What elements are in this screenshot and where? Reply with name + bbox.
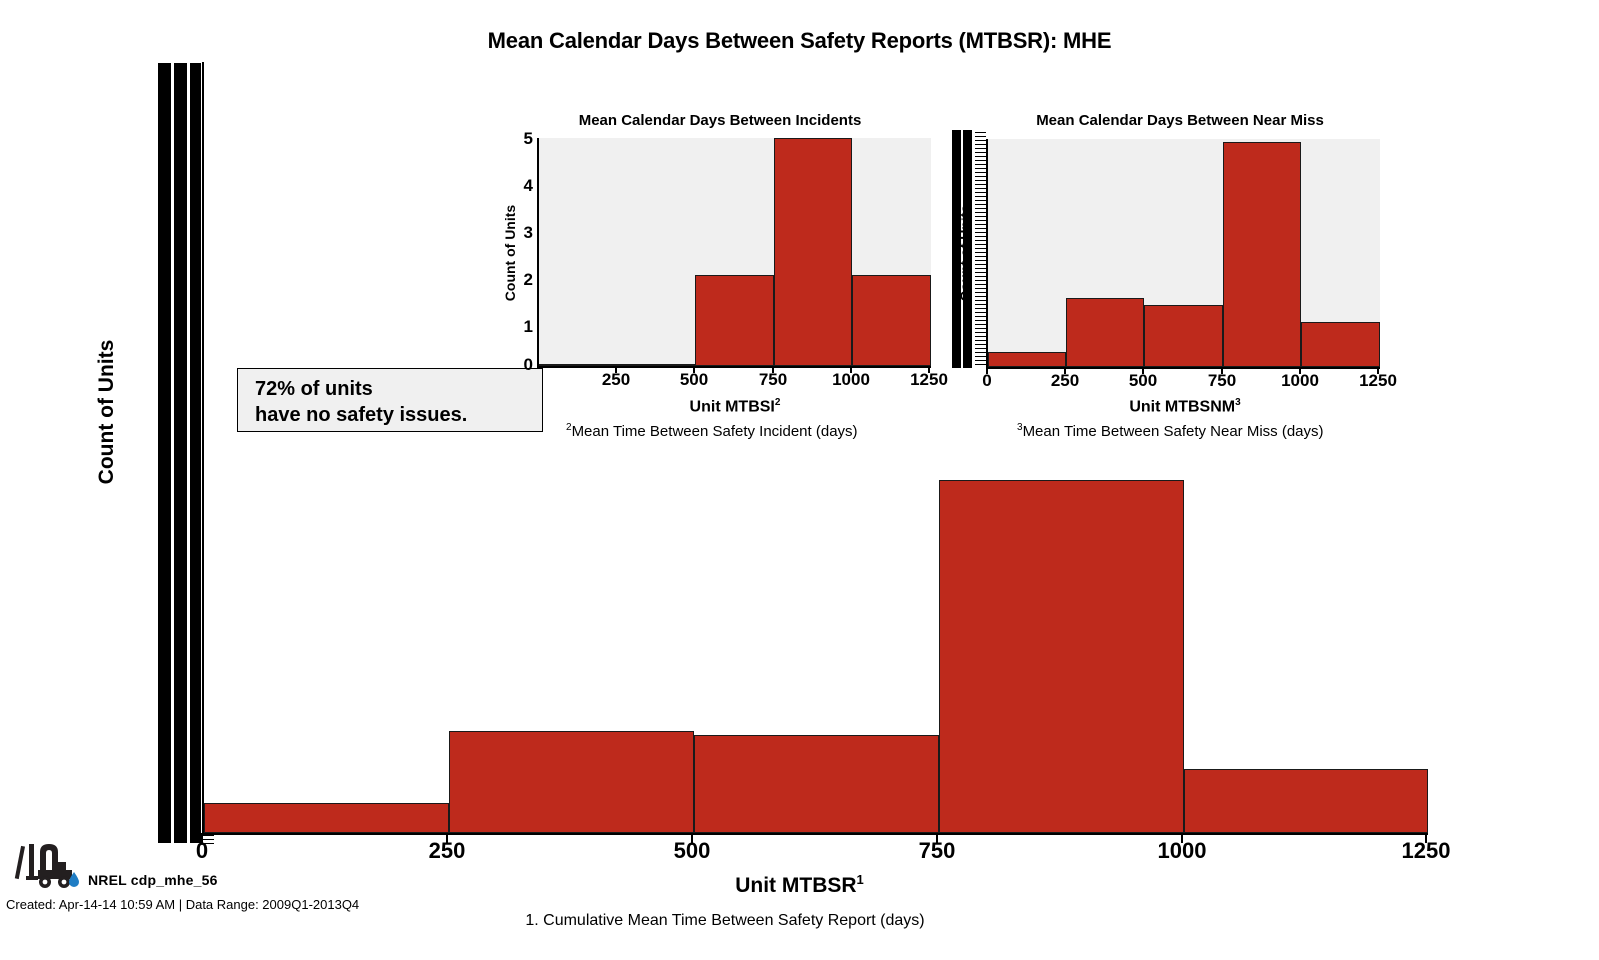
main-bar-750-1000[interactable] bbox=[939, 480, 1184, 833]
inset-near-miss-x-axis-label-superscript: 3 bbox=[1235, 397, 1241, 408]
inset-near-miss-bar-750-1000[interactable] bbox=[1223, 142, 1301, 367]
inset-incidents-bar-0-250[interactable] bbox=[539, 364, 617, 366]
inset-incidents-xtick-250: 250 bbox=[581, 370, 651, 390]
inset-near-miss-xtick-750: 750 bbox=[1187, 371, 1257, 391]
inset-near-miss-xtick-0: 0 bbox=[952, 371, 1022, 391]
page-title: Mean Calendar Days Between Safety Report… bbox=[0, 28, 1599, 54]
inset-incidents-x-axis-label-superscript: 2 bbox=[775, 397, 781, 408]
annotation-line-1: 72% of units bbox=[255, 376, 542, 402]
main-bar-500-750[interactable] bbox=[694, 735, 939, 833]
inset-near-miss-plot bbox=[986, 139, 1380, 369]
inset-incidents-bar-1000-1250[interactable] bbox=[852, 275, 931, 366]
inset-near-miss-bar-250-500[interactable] bbox=[1066, 298, 1144, 367]
inset-near-miss-xtick-1250: 1250 bbox=[1343, 371, 1413, 391]
inset-incidents-footnote-text: Mean Time Between Safety Incident (days) bbox=[572, 423, 858, 440]
inset-near-miss-xtick-250: 250 bbox=[1030, 371, 1100, 391]
inset-incidents-title: Mean Calendar Days Between Incidents bbox=[500, 112, 940, 129]
inset-near-miss-footnote: 3Mean Time Between Safety Near Miss (day… bbox=[1017, 422, 1324, 440]
inset-incidents-xtick-750: 750 bbox=[738, 370, 808, 390]
main-xtick-label-0: 0 bbox=[142, 838, 262, 864]
inset-near-miss-footnote-text: Mean Time Between Safety Near Miss (days… bbox=[1023, 423, 1324, 440]
inset-incidents-xtick-500: 500 bbox=[659, 370, 729, 390]
inset-near-miss-bar-500-750[interactable] bbox=[1144, 305, 1223, 367]
main-xtick-label-250: 250 bbox=[387, 838, 507, 864]
footer-brand-label: NREL cdp_mhe_56 bbox=[88, 872, 218, 888]
inset-incidents-footnote: 2Mean Time Between Safety Incident (days… bbox=[566, 422, 858, 440]
inset-near-miss-xtick-1000: 1000 bbox=[1265, 371, 1335, 391]
inset-incidents-x-axis-label: Unit MTBSI2 bbox=[600, 397, 870, 416]
main-bar-0-250[interactable] bbox=[204, 803, 449, 833]
main-xtick-label-1000: 1000 bbox=[1122, 838, 1242, 864]
inset-incidents-ytick-2: 2 bbox=[511, 270, 533, 290]
main-x-axis-label-text: Unit MTBSR bbox=[735, 874, 856, 897]
inset-incidents-bar-500-750[interactable] bbox=[695, 275, 774, 366]
main-y-axis-label: Count of Units bbox=[95, 297, 119, 527]
inset-incidents-plot bbox=[537, 138, 931, 368]
inset-near-miss-x-axis-label-text: Unit MTBSNM bbox=[1129, 398, 1235, 415]
main-xtick-label-1250: 1250 bbox=[1366, 838, 1486, 864]
main-bar-250-500[interactable] bbox=[449, 731, 694, 833]
inset-incidents-bar-750-1000[interactable] bbox=[774, 138, 852, 366]
forklift-icon bbox=[12, 840, 84, 890]
inset-incidents-y-axis-label: Count of Units bbox=[502, 173, 518, 333]
main-x-axis-label: Unit MTBSR1 bbox=[0, 872, 1599, 898]
footer-created-label: Created: Apr-14-14 10:59 AM | Data Range… bbox=[6, 897, 359, 912]
main-x-axis-label-superscript: 1 bbox=[857, 872, 864, 887]
inset-near-miss-bar-0-250[interactable] bbox=[988, 352, 1066, 367]
inset-near-miss-y-tick-label-artifact bbox=[952, 130, 986, 370]
inset-near-miss-x-axis-label: Unit MTBSNM3 bbox=[1050, 397, 1320, 416]
inset-incidents-ytick-0: 0 bbox=[511, 355, 533, 375]
inset-incidents-bar-250-500[interactable] bbox=[617, 364, 695, 366]
inset-incidents-ytick-4: 4 bbox=[511, 176, 533, 196]
main-xtick-label-750: 750 bbox=[877, 838, 997, 864]
inset-incidents-ytick-3: 3 bbox=[511, 223, 533, 243]
no-safety-issues-annotation: 72% of units have no safety issues. bbox=[237, 368, 543, 432]
main-bar-1000-1250[interactable] bbox=[1184, 769, 1428, 833]
main-footnote: 1. Cumulative Mean Time Between Safety R… bbox=[0, 912, 1450, 930]
inset-incidents-xtick-1000: 1000 bbox=[816, 370, 886, 390]
inset-incidents-x-axis-label-text: Unit MTBSI bbox=[690, 398, 775, 415]
inset-incidents-ytick-5: 5 bbox=[511, 129, 533, 149]
inset-near-miss-bar-1000-1250[interactable] bbox=[1301, 322, 1380, 367]
inset-near-miss-title: Mean Calendar Days Between Near Miss bbox=[955, 112, 1405, 129]
annotation-line-2: have no safety issues. bbox=[255, 402, 542, 428]
main-xtick-label-500: 500 bbox=[632, 838, 752, 864]
inset-incidents-ytick-1: 1 bbox=[511, 317, 533, 337]
inset-near-miss-xtick-500: 500 bbox=[1108, 371, 1178, 391]
